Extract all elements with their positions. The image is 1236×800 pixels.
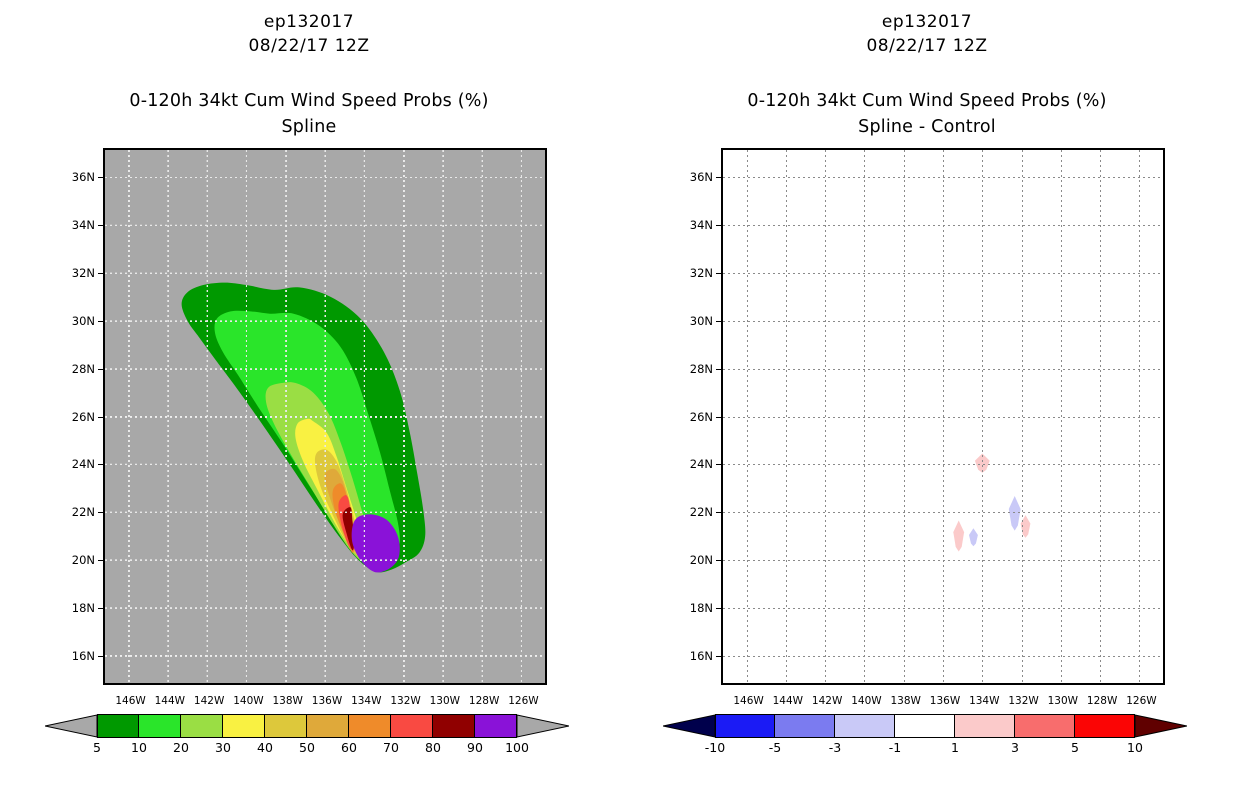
colorbar-tick-label: 100 <box>505 740 529 755</box>
colorbar-tick-label: 60 <box>341 740 357 755</box>
colorbar-swatch <box>391 714 433 738</box>
y-axis-tick <box>716 656 723 657</box>
x-axis-label: 126W <box>1126 695 1156 707</box>
y-axis-tick <box>98 417 105 418</box>
colorbar-swatch <box>955 714 1015 738</box>
gridline-horizontal <box>105 560 545 561</box>
y-axis-tick <box>98 369 105 370</box>
gridline-horizontal <box>105 177 545 178</box>
gridline-horizontal <box>105 273 545 274</box>
colorbar-tick-label: -5 <box>769 740 781 755</box>
gridline-horizontal <box>105 608 545 609</box>
colorbar-tick-label: 30 <box>215 740 231 755</box>
x-axis-label: 138W <box>890 695 920 707</box>
gridline-horizontal <box>723 608 1163 609</box>
x-axis-label: 130W <box>430 695 460 707</box>
colorbar-swatch <box>775 714 835 738</box>
y-axis-label: 18N <box>679 601 713 615</box>
x-axis-label: 134W <box>351 695 381 707</box>
y-axis-label: 36N <box>61 170 95 184</box>
y-axis-tick <box>716 512 723 513</box>
datetime-right: 08/22/17 12Z <box>618 36 1236 56</box>
y-axis-label: 16N <box>679 649 713 663</box>
gridline-horizontal <box>105 225 545 226</box>
chart-subtitle-right: Spline - Control <box>618 117 1236 137</box>
storm-id-right: ep132017 <box>618 12 1236 32</box>
gridline-horizontal <box>723 656 1163 657</box>
colorbar-probability: 5102030405060708090100 <box>0 714 618 774</box>
gridline-horizontal <box>105 417 545 418</box>
y-axis-label: 20N <box>679 553 713 567</box>
y-axis-tick <box>98 225 105 226</box>
gridline-horizontal <box>723 273 1163 274</box>
colorbar-swatch <box>895 714 955 738</box>
y-axis-label: 28N <box>61 362 95 376</box>
y-axis-label: 34N <box>61 218 95 232</box>
gridline-horizontal <box>723 369 1163 370</box>
gridline-horizontal <box>723 560 1163 561</box>
colorbar-tick-label: 5 <box>93 740 101 755</box>
y-axis-label: 34N <box>679 218 713 232</box>
colorbar-swatch <box>433 714 475 738</box>
colorbar-swatch <box>715 714 775 738</box>
colorbar-over-cap-left <box>517 714 569 738</box>
anomaly-patch <box>953 521 964 552</box>
x-axis-label: 128W <box>1087 695 1117 707</box>
panel-spline: ep132017 08/22/17 12Z 0-120h 34kt Cum Wi… <box>0 0 618 800</box>
gridline-horizontal <box>105 656 545 657</box>
x-axis-label: 146W <box>115 695 145 707</box>
colorbar-swatch <box>181 714 223 738</box>
gridline-horizontal <box>105 512 545 513</box>
x-axis-label: 144W <box>155 695 185 707</box>
y-axis-tick <box>716 177 723 178</box>
y-axis-tick <box>98 512 105 513</box>
x-axis-label: 136W <box>312 695 342 707</box>
colorbar-swatches-probability <box>97 714 517 738</box>
x-axis-label: 142W <box>194 695 224 707</box>
y-axis-label: 26N <box>61 410 95 424</box>
map-plot-spline: 146W144W142W140W138W136W134W132W130W128W… <box>103 148 547 685</box>
x-axis-label: 136W <box>930 695 960 707</box>
colorbar-tick-label: -10 <box>705 740 725 755</box>
y-axis-tick <box>98 656 105 657</box>
colorbar-under-cap-left <box>45 714 97 738</box>
colorbar-tick-label: 40 <box>257 740 273 755</box>
y-axis-label: 22N <box>679 505 713 519</box>
gridline-horizontal <box>723 417 1163 418</box>
y-axis-tick <box>716 321 723 322</box>
y-axis-label: 24N <box>679 457 713 471</box>
y-axis-label: 32N <box>61 266 95 280</box>
y-axis-tick <box>98 464 105 465</box>
y-axis-tick <box>716 560 723 561</box>
y-axis-tick <box>716 608 723 609</box>
y-axis-label: 26N <box>679 410 713 424</box>
y-axis-label: 36N <box>679 170 713 184</box>
x-axis-label: 132W <box>390 695 420 707</box>
colorbar-under-cap-right <box>663 714 715 738</box>
y-axis-tick <box>716 273 723 274</box>
gridline-horizontal <box>723 177 1163 178</box>
colorbar-tick-label: 3 <box>1011 740 1019 755</box>
y-axis-label: 22N <box>61 505 95 519</box>
y-axis-label: 16N <box>61 649 95 663</box>
x-axis-label: 146W <box>733 695 763 707</box>
y-axis-label: 24N <box>61 457 95 471</box>
colorbar-swatch <box>835 714 895 738</box>
x-axis-label: 140W <box>233 695 263 707</box>
colorbar-tick-label: 20 <box>173 740 189 755</box>
colorbar-over-cap-right <box>1135 714 1187 738</box>
map-plot-difference: 146W144W142W140W138W136W134W132W130W128W… <box>721 148 1165 685</box>
colorbar-tick-label: 1 <box>951 740 959 755</box>
colorbar-tick-label: -3 <box>829 740 841 755</box>
y-axis-label: 28N <box>679 362 713 376</box>
colorbar-tick-label: 10 <box>1127 740 1143 755</box>
y-axis-tick <box>716 225 723 226</box>
anomaly-patch <box>969 528 978 546</box>
datetime-left: 08/22/17 12Z <box>0 36 618 56</box>
colorbar-swatch <box>265 714 307 738</box>
y-axis-tick <box>716 417 723 418</box>
y-axis-tick <box>716 369 723 370</box>
colorbar-swatch <box>307 714 349 738</box>
x-axis-label: 142W <box>812 695 842 707</box>
colorbar-swatch <box>1015 714 1075 738</box>
x-axis-label: 132W <box>1008 695 1038 707</box>
storm-id-left: ep132017 <box>0 12 618 32</box>
colorbar-swatch <box>223 714 265 738</box>
x-axis-label: 130W <box>1048 695 1078 707</box>
x-axis-label: 134W <box>969 695 999 707</box>
y-axis-label: 32N <box>679 266 713 280</box>
x-axis-label: 144W <box>773 695 803 707</box>
colorbar-labels-probability: 5102030405060708090100 <box>0 740 618 760</box>
y-axis-tick <box>98 177 105 178</box>
colorbar-tick-label: 5 <box>1071 740 1079 755</box>
gridline-horizontal <box>105 369 545 370</box>
colorbar-labels-difference: -10-5-3-113510 <box>618 740 1236 760</box>
colorbar-difference: -10-5-3-113510 <box>618 714 1236 774</box>
colorbar-swatch <box>1075 714 1135 738</box>
colorbar-swatch <box>139 714 181 738</box>
y-axis-label: 20N <box>61 553 95 567</box>
y-axis-tick <box>98 608 105 609</box>
chart-title-right: 0-120h 34kt Cum Wind Speed Probs (%) <box>618 91 1236 111</box>
gridline-horizontal <box>105 464 545 465</box>
y-axis-tick <box>98 321 105 322</box>
y-axis-label: 30N <box>679 314 713 328</box>
colorbar-tick-label: -1 <box>889 740 901 755</box>
gridline-horizontal <box>105 321 545 322</box>
colorbar-tick-label: 90 <box>467 740 483 755</box>
gridline-horizontal <box>723 464 1163 465</box>
gridline-horizontal <box>723 512 1163 513</box>
gridline-horizontal <box>723 321 1163 322</box>
y-axis-tick <box>98 560 105 561</box>
y-axis-tick <box>716 464 723 465</box>
chart-title-left: 0-120h 34kt Cum Wind Speed Probs (%) <box>0 91 618 111</box>
colorbar-swatch <box>97 714 139 738</box>
chart-subtitle-left: Spline <box>0 117 618 137</box>
y-axis-label: 30N <box>61 314 95 328</box>
colorbar-swatches-difference <box>715 714 1135 738</box>
x-axis-label: 128W <box>469 695 499 707</box>
x-axis-label: 126W <box>508 695 538 707</box>
colorbar-swatch <box>475 714 517 738</box>
y-axis-tick <box>98 273 105 274</box>
panel-spline-minus-control: ep132017 08/22/17 12Z 0-120h 34kt Cum Wi… <box>618 0 1236 800</box>
gridline-horizontal <box>723 225 1163 226</box>
anomaly-patch <box>1009 496 1021 531</box>
colorbar-tick-label: 80 <box>425 740 441 755</box>
colorbar-swatch <box>349 714 391 738</box>
colorbar-tick-label: 10 <box>131 740 147 755</box>
y-axis-label: 18N <box>61 601 95 615</box>
x-axis-label: 138W <box>272 695 302 707</box>
colorbar-tick-label: 70 <box>383 740 399 755</box>
x-axis-label: 140W <box>851 695 881 707</box>
colorbar-tick-label: 50 <box>299 740 315 755</box>
